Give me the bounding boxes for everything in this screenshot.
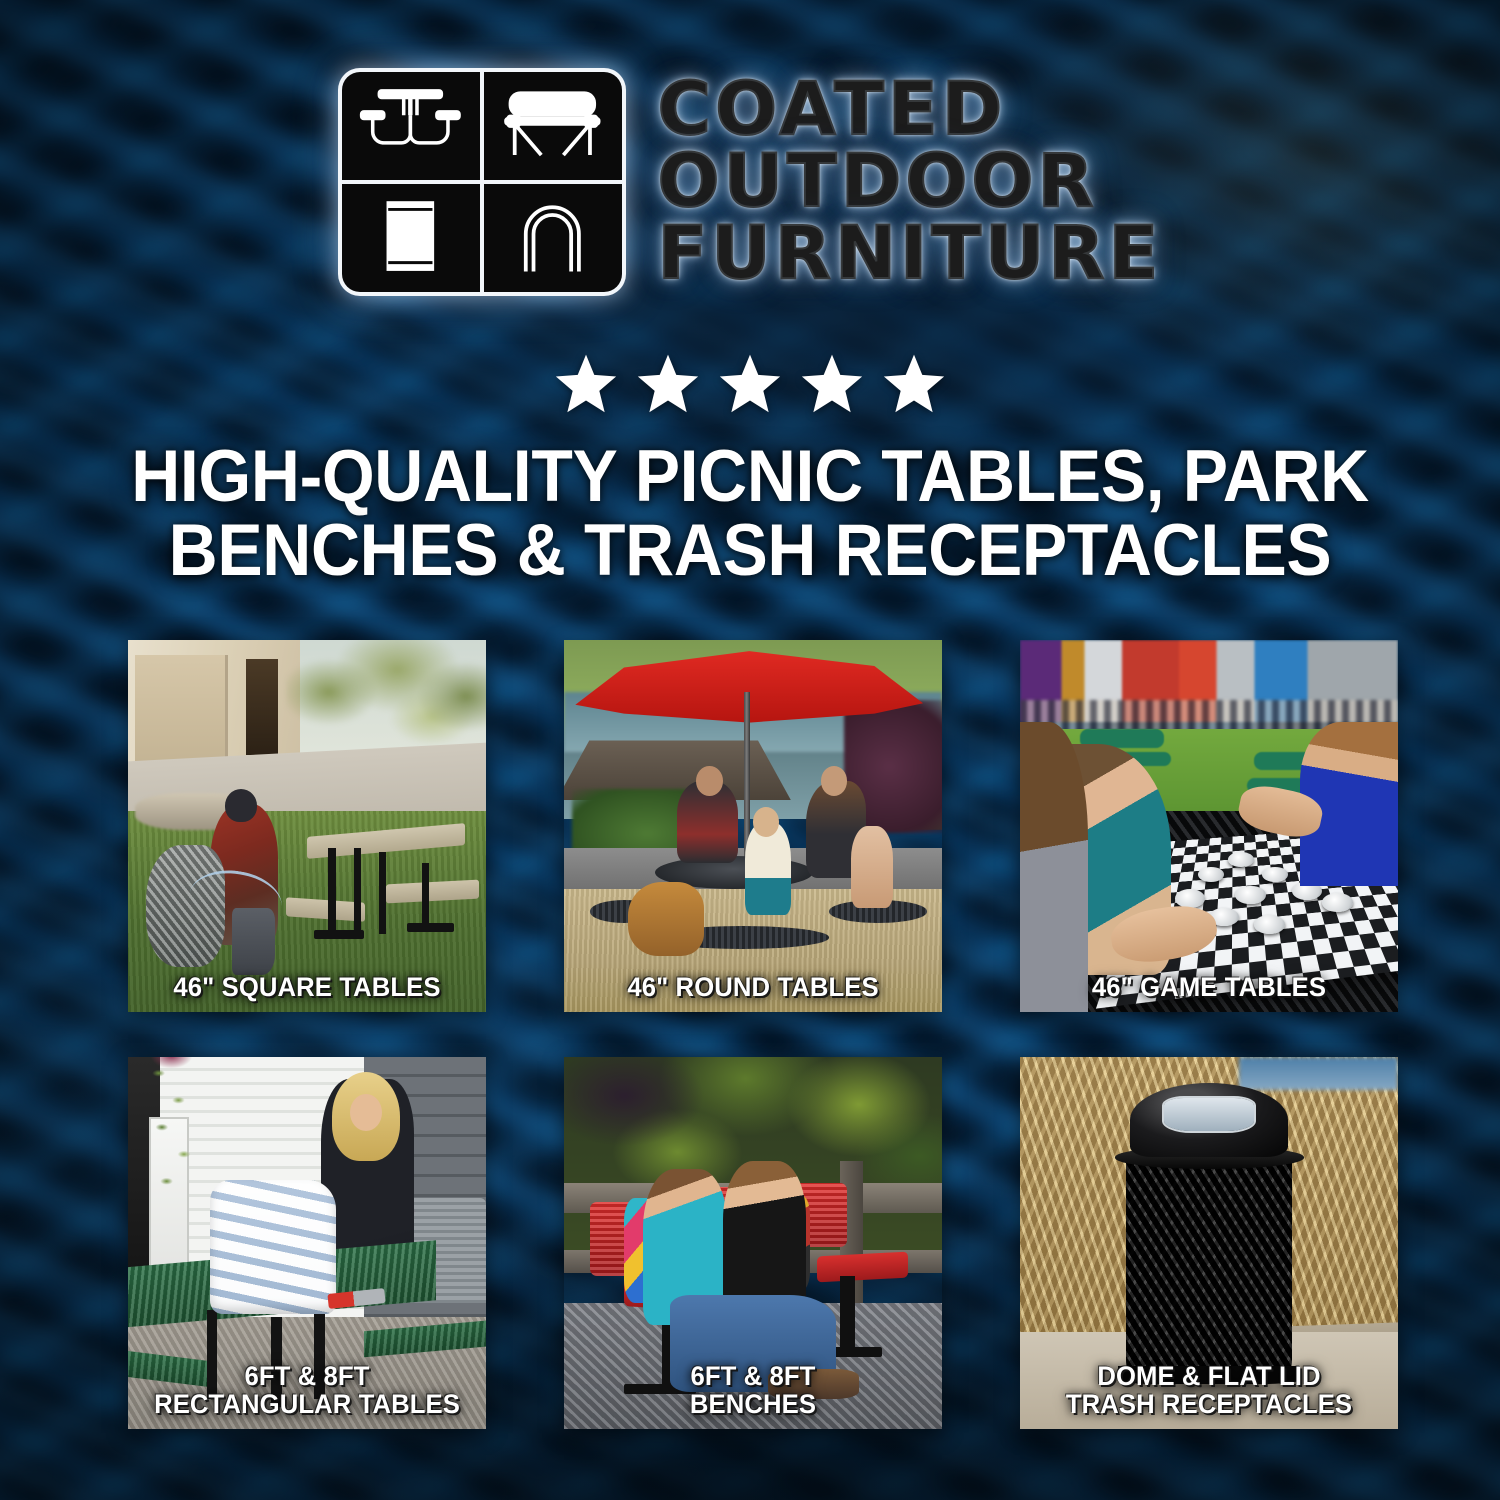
logo-icon-grid [338,68,626,296]
brand-word-outdoor: OUTDOOR [658,147,1163,217]
product-tile-round-tables[interactable]: 46" ROUND TABLES [564,640,942,1012]
caption-line-1: 46" SQUARE TABLES [137,974,477,1002]
product-tile-rectangular-tables[interactable]: 6FT & 8FT RECTANGULAR TABLES [128,1057,486,1429]
caption-line-2: TRASH RECEPTACLES [1029,1391,1388,1419]
star-icon-3 [717,352,783,416]
trash-receptacle-icon [342,184,480,292]
page-content: COATED OUTDOOR FURNITURE HIGH-QUALITY PI… [0,0,1500,1500]
caption-line-1: DOME & FLAT LID [1029,1363,1388,1391]
product-tile-trash-receptacles[interactable]: DOME & FLAT LID TRASH RECEPTACLES [1020,1057,1398,1429]
page-title: HIGH-QUALITY PICNIC TABLES, PARK BENCHES… [53,440,1448,589]
star-icon-4 [799,352,865,416]
product-grid: 46" SQUARE TABLES [128,640,1378,1429]
product-tile-game-tables[interactable]: 46" GAME TABLES [1020,640,1398,1012]
picnic-table-icon [342,72,480,180]
product-photo-square-tables [128,640,486,1012]
product-caption-rectangular-tables: 6FT & 8FT RECTANGULAR TABLES [137,1363,477,1419]
product-caption-round-tables: 46" ROUND TABLES [573,974,932,1002]
product-photo-game-tables [1020,640,1398,1012]
brand-wordmark: COATED OUTDOOR FURNITURE [658,75,1163,289]
brand-logo: COATED OUTDOOR FURNITURE [0,68,1500,296]
brand-word-coated: COATED [658,75,1163,145]
product-photo-round-tables [564,640,942,1012]
star-icon-5 [881,352,947,416]
caption-line-1: 6FT & 8FT [137,1363,477,1391]
headline-line-1: HIGH-QUALITY PICNIC TABLES, PARK [118,440,1383,514]
caption-line-2: RECTANGULAR TABLES [137,1391,477,1419]
product-caption-trash-receptacles: DOME & FLAT LID TRASH RECEPTACLES [1029,1363,1388,1419]
star-rating [0,352,1500,416]
caption-line-1: 6FT & 8FT [573,1363,932,1391]
product-caption-benches: 6FT & 8FT BENCHES [573,1363,932,1419]
caption-line-2: BENCHES [573,1391,932,1419]
brand-word-furniture: FURNITURE [658,219,1163,289]
star-icon-1 [553,352,619,416]
bench-icon [484,72,622,180]
product-tile-square-tables[interactable]: 46" SQUARE TABLES [128,640,486,1012]
headline-line-2: BENCHES & TRASH RECEPTACLES [118,514,1383,588]
bike-rack-arch-icon [484,184,622,292]
star-icon-2 [635,352,701,416]
caption-line-1: 46" ROUND TABLES [573,974,932,1002]
product-caption-game-tables: 46" GAME TABLES [1029,974,1388,1002]
caption-line-1: 46" GAME TABLES [1029,974,1388,1002]
product-caption-square-tables: 46" SQUARE TABLES [137,974,477,1002]
product-tile-benches[interactable]: 6FT & 8FT BENCHES [564,1057,942,1429]
